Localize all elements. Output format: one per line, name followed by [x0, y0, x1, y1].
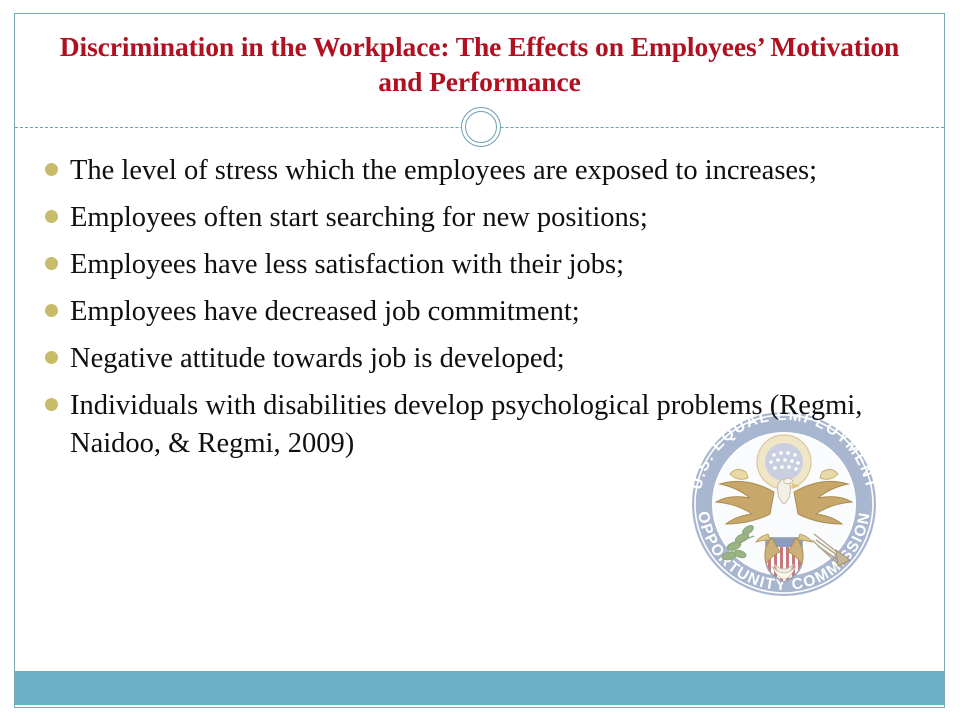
list-item: Negative attitude towards job is develop…: [15, 340, 915, 378]
bullet-dot-icon: [45, 257, 58, 270]
footer-rule: [15, 707, 944, 708]
list-item-text: The level of stress which the employees …: [70, 152, 908, 190]
bullet-list: The level of stress which the employees …: [15, 152, 915, 472]
bullet-dot-icon: [45, 304, 58, 317]
bullet-dot-icon: [45, 210, 58, 223]
divider-ring-inner: [465, 111, 497, 143]
list-item-text: Individuals with disabilities develop ps…: [70, 387, 908, 463]
list-item: Employees have decreased job commitment;: [15, 293, 915, 331]
footer-band: [15, 671, 944, 705]
list-item-text: Employees have decreased job commitment;: [70, 293, 908, 331]
bullet-dot-icon: [45, 163, 58, 176]
bullet-dot-icon: [45, 398, 58, 411]
list-item: The level of stress which the employees …: [15, 152, 915, 190]
bullet-dot-icon: [45, 351, 58, 364]
list-item-text: Negative attitude towards job is develop…: [70, 340, 908, 378]
slide-title-text: Discrimination in the Workplace: The Eff…: [40, 29, 920, 99]
slide-title: Discrimination in the Workplace: The Eff…: [15, 14, 944, 114]
list-item: Employees often start searching for new …: [15, 199, 915, 237]
list-item-text: Employees have less satisfaction with th…: [70, 246, 908, 284]
list-item-text: Employees often start searching for new …: [70, 199, 908, 237]
list-item: Employees have less satisfaction with th…: [15, 246, 915, 284]
list-item: Individuals with disabilities develop ps…: [15, 387, 915, 463]
title-divider: [15, 127, 944, 129]
slide: U.S. EQUAL EMPLOYMENT OPPORTUNITY COMMIS…: [0, 0, 960, 720]
